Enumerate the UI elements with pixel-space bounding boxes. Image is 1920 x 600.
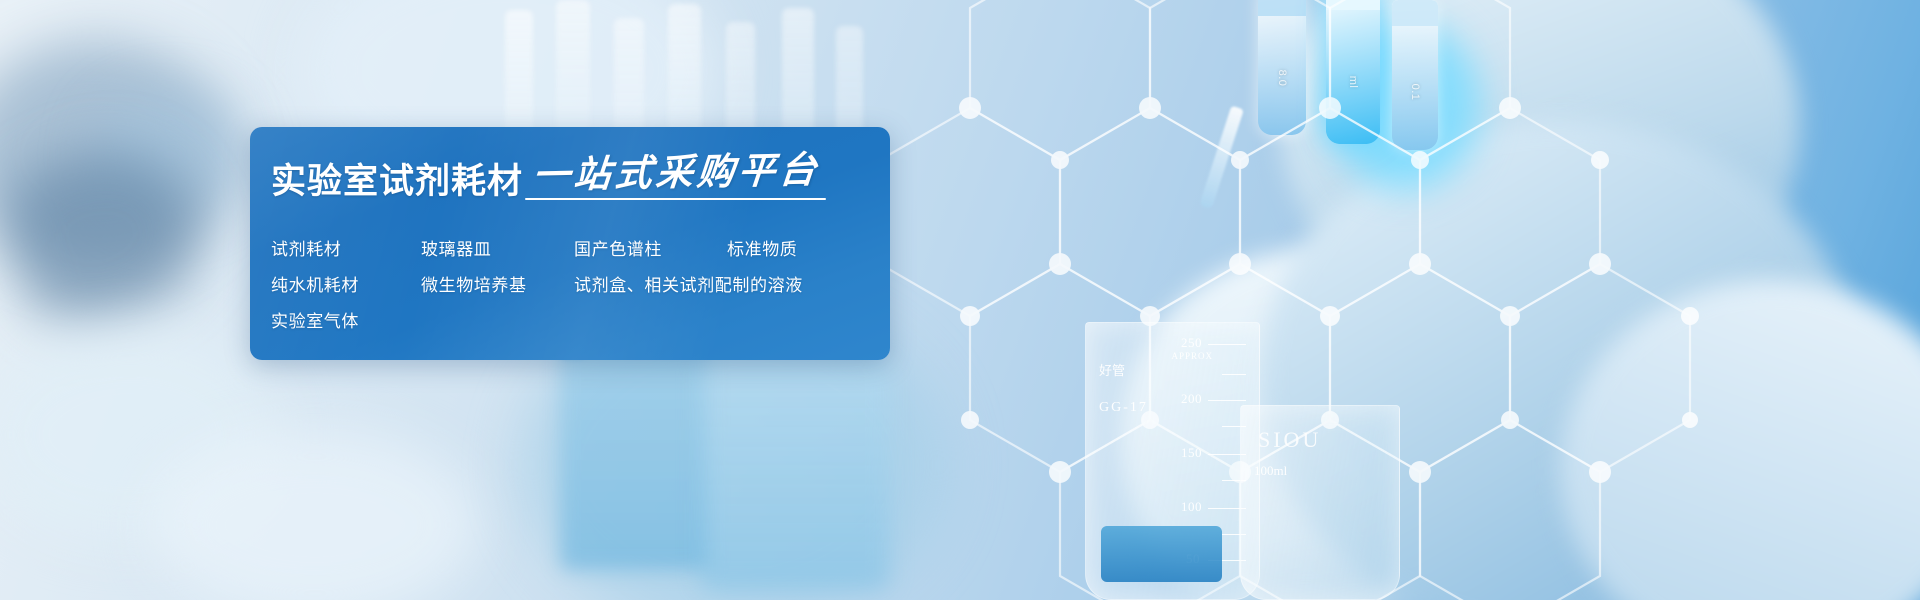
beaker-graduation-100: 100 [1181,499,1202,515]
beaker-liquid [1101,526,1222,582]
graduated-flask: SIOU 100ml [1240,405,1400,600]
graduation-mark [1222,374,1246,375]
category-item-water-purifier-consumables[interactable]: 纯水机耗材 [271,278,421,295]
category-item-glassware[interactable]: 玻璃器皿 [421,242,574,259]
beaker-graduation-200: 200 [1181,391,1202,407]
beaker-approx-label: APPROX [1171,351,1213,361]
category-item-reagent-consumables[interactable]: 试剂耗材 [271,242,421,259]
graduation-mark [1208,400,1246,401]
category-item-laboratory-gases[interactable]: 实验室气体 [271,314,421,331]
category-item-reference-material[interactable]: 标准物质 [727,242,797,259]
beaker-brand-label: 好管 [1099,360,1125,379]
category-row: 实验室气体 [271,304,872,340]
category-item-domestic-chromatography-column[interactable]: 国产色谱柱 [574,242,727,259]
lab-hero-banner: 8.0 ml 0.1 [0,0,1920,600]
graduation-mark [1208,344,1246,345]
flask-brand-label: SIOU [1258,427,1321,453]
graduated-beaker: 250 APPROX 200 150 100 50 GG-17 好管 [1085,322,1260,600]
background-test-tube [560,330,710,570]
category-row: 纯水机耗材 微生物培养基 试剂盒、相关试剂配制的溶液 [271,268,872,304]
headline-script-wrap: 一站式采购平台 [533,154,820,200]
beaker-graduation-150: 150 [1181,445,1202,461]
headline-script-text: 一站式采购平台 [531,151,822,194]
category-item-reagent-kits-and-solutions[interactable]: 试剂盒、相关试剂配制的溶液 [574,278,803,295]
category-list: 试剂耗材 玻璃器皿 国产色谱柱 标准物质 纯水机耗材 微生物培养基 试剂盒、相关… [271,232,872,340]
headline-bold-text: 实验室试剂耗材 [271,165,523,200]
category-item-microbial-culture-media[interactable]: 微生物培养基 [421,278,574,295]
category-row: 试剂耗材 玻璃器皿 国产色谱柱 标准物质 [271,232,872,268]
flask-volume-label: 100ml [1254,463,1287,479]
beaker-model-label: GG-17 [1099,400,1148,416]
promo-panel: 实验室试剂耗材 一站式采购平台 试剂耗材 玻璃器皿 国产色谱柱 标准物质 纯水机… [250,127,890,360]
headline-underline [525,198,826,200]
headline: 实验室试剂耗材 一站式采购平台 [271,154,820,200]
beaker-graduation-250: 250 [1181,335,1202,351]
